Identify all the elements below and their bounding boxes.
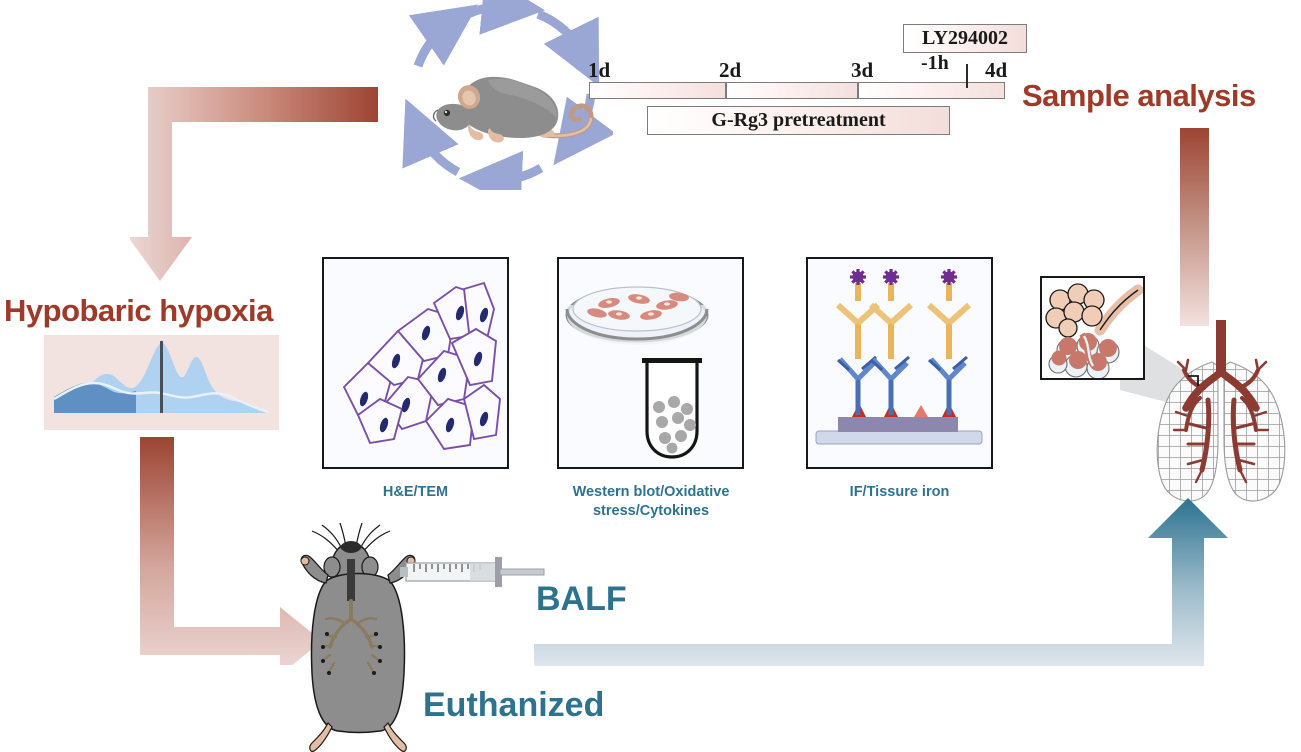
timeline-segment-3 bbox=[858, 82, 1005, 99]
petri-dish-icon bbox=[559, 259, 742, 467]
panel-if-tissue-iron bbox=[806, 257, 993, 469]
lungs-icon bbox=[1142, 320, 1301, 510]
pretreatment-box: G-Rg3 pretreatment bbox=[647, 106, 950, 135]
panel-he-tem bbox=[322, 257, 509, 469]
epithelial-cells-icon bbox=[324, 259, 507, 467]
label-euthanized: Euthanized bbox=[423, 686, 604, 725]
arrow-sample-analysis bbox=[1166, 128, 1216, 328]
syringe-icon bbox=[400, 555, 548, 589]
timeline-tick-4d: 4d bbox=[985, 58, 1007, 83]
label-balf: BALF bbox=[536, 580, 627, 619]
altitude-mountain-icon bbox=[44, 335, 279, 430]
drug-box-label: LY294002 bbox=[922, 27, 1008, 50]
arrow-balf bbox=[534, 498, 1234, 668]
panel-caption-he-tem: H&E/TEM bbox=[322, 483, 509, 502]
page-title-sample-analysis: Sample analysis bbox=[1022, 78, 1256, 114]
pretreatment-label: G-Rg3 pretreatment bbox=[711, 109, 885, 132]
drug-box-ly294002: LY294002 bbox=[903, 24, 1027, 53]
timeline-segment-2 bbox=[726, 82, 858, 99]
inhibitor-time-label: -1h bbox=[921, 52, 949, 75]
altitude-mountain-panel bbox=[44, 335, 279, 430]
alveoli-inset-icon bbox=[1042, 278, 1143, 378]
timeline-tick-3d: 3d bbox=[851, 58, 873, 83]
panel-western-blot bbox=[557, 257, 744, 469]
figure-canvas: 1d 2d 3d 4d -1h LY294002 G-Rg3 pretreatm… bbox=[0, 0, 1301, 752]
timeline-tick-1d: 1d bbox=[588, 58, 610, 83]
alveoli-inset-panel bbox=[1040, 276, 1145, 380]
immunofluorescence-antibody-icon bbox=[808, 259, 991, 467]
rat-icon bbox=[428, 50, 603, 160]
page-title-hypobaric-hypoxia: Hypobaric hypoxia bbox=[4, 293, 273, 329]
timeline-segment-1 bbox=[589, 82, 726, 99]
timeline-tick-2d: 2d bbox=[719, 58, 741, 83]
timeline-inhibitor-tick bbox=[966, 64, 968, 88]
